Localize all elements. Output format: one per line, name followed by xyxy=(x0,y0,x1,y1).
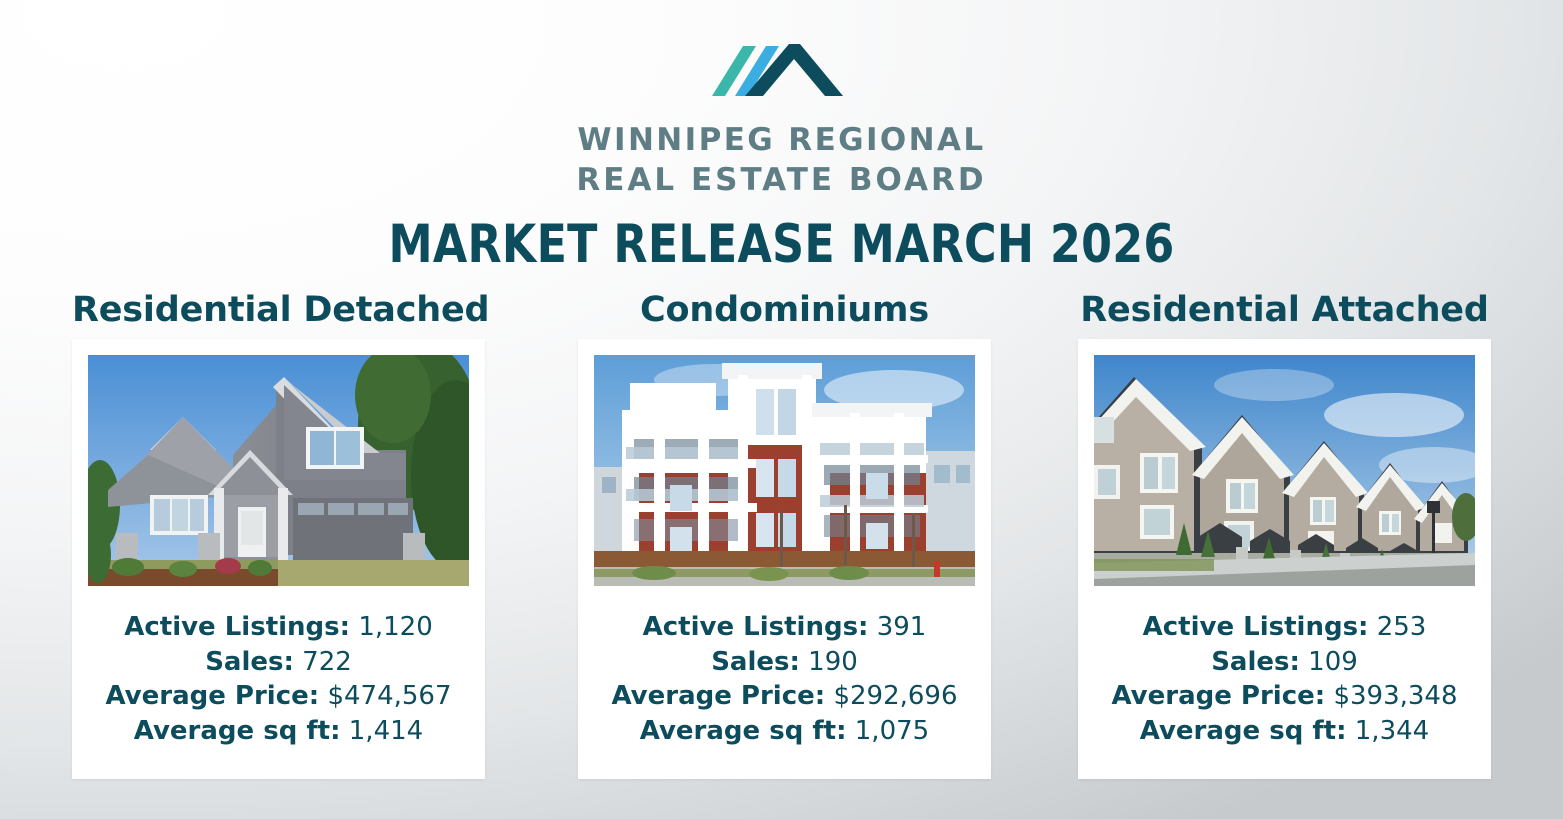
stat-average-sq-ft: Average sq ft: 1,344 xyxy=(1094,714,1475,749)
stat-label: Active Listings: xyxy=(124,612,350,642)
stat-value: $474,567 xyxy=(327,681,451,711)
mountain-roof-logo-icon xyxy=(709,34,855,108)
stat-average-price: Average Price: $393,348 xyxy=(1094,679,1475,714)
brand-wordmark-line2: REAL ESTATE BOARD xyxy=(576,160,986,200)
stat-sales: Sales: 109 xyxy=(1094,645,1475,680)
card-heading: Residential Detached xyxy=(72,293,485,328)
stat-value: 391 xyxy=(877,612,927,642)
page-title: MARKET RELEASE MARCH 2026 xyxy=(55,214,1509,275)
stat-label: Sales: xyxy=(1211,647,1300,677)
stat-label: Average sq ft: xyxy=(640,716,847,746)
stat-label: Average sq ft: xyxy=(1140,716,1347,746)
stat-value: 109 xyxy=(1308,647,1358,677)
stat-label: Sales: xyxy=(205,647,294,677)
stat-label: Average Price: xyxy=(611,681,825,711)
brand-wordmark-line1: WINNIPEG REGIONAL xyxy=(576,120,986,160)
stat-label: Active Listings: xyxy=(643,612,869,642)
card-body: Active Listings: 1,120 Sales: 722 Averag… xyxy=(72,339,485,779)
stat-label: Average sq ft: xyxy=(134,716,341,746)
card-body: Active Listings: 253 Sales: 109 Average … xyxy=(1078,339,1491,779)
detached-house-photo xyxy=(88,355,469,586)
stat-label: Active Listings: xyxy=(1143,612,1369,642)
card-stats: Active Listings: 391 Sales: 190 Average … xyxy=(594,610,975,748)
card-residential-attached: Residential Attached xyxy=(1078,293,1491,779)
market-release-infographic: WINNIPEG REGIONAL REAL ESTATE BOARD MARK… xyxy=(0,0,1563,819)
brand-logo: WINNIPEG REGIONAL REAL ESTATE BOARD xyxy=(0,34,1563,201)
stat-value: 190 xyxy=(808,647,858,677)
stat-label: Average Price: xyxy=(1111,681,1325,711)
stat-value: 1,344 xyxy=(1355,716,1429,746)
stats-cards-row: Residential Detached xyxy=(0,293,1563,793)
card-residential-detached: Residential Detached xyxy=(72,293,485,779)
card-heading: Condominiums xyxy=(578,293,991,328)
stat-label: Average Price: xyxy=(105,681,319,711)
stat-average-price: Average Price: $474,567 xyxy=(88,679,469,714)
stat-value: 722 xyxy=(302,647,352,677)
stat-active-listings: Active Listings: 391 xyxy=(594,610,975,645)
stat-value: 1,075 xyxy=(855,716,929,746)
card-heading: Residential Attached xyxy=(1078,293,1491,328)
stat-value: $393,348 xyxy=(1333,681,1457,711)
stat-value: 1,120 xyxy=(358,612,432,642)
stat-value: 1,414 xyxy=(349,716,423,746)
stat-average-sq-ft: Average sq ft: 1,075 xyxy=(594,714,975,749)
stat-sales: Sales: 722 xyxy=(88,645,469,680)
card-body: Active Listings: 391 Sales: 190 Average … xyxy=(578,339,991,779)
stat-active-listings: Active Listings: 253 xyxy=(1094,610,1475,645)
stat-sales: Sales: 190 xyxy=(594,645,975,680)
stat-label: Sales: xyxy=(711,647,800,677)
card-stats: Active Listings: 1,120 Sales: 722 Averag… xyxy=(88,610,469,748)
stat-active-listings: Active Listings: 1,120 xyxy=(88,610,469,645)
stat-value: 253 xyxy=(1377,612,1427,642)
stat-average-price: Average Price: $292,696 xyxy=(594,679,975,714)
stat-value: $292,696 xyxy=(833,681,957,711)
condominium-building-photo xyxy=(594,355,975,586)
stat-average-sq-ft: Average sq ft: 1,414 xyxy=(88,714,469,749)
card-stats: Active Listings: 253 Sales: 109 Average … xyxy=(1094,610,1475,748)
townhouse-row-photo xyxy=(1094,355,1475,586)
brand-wordmark: WINNIPEG REGIONAL REAL ESTATE BOARD xyxy=(576,120,986,201)
card-condominiums: Condominiums xyxy=(578,293,991,779)
